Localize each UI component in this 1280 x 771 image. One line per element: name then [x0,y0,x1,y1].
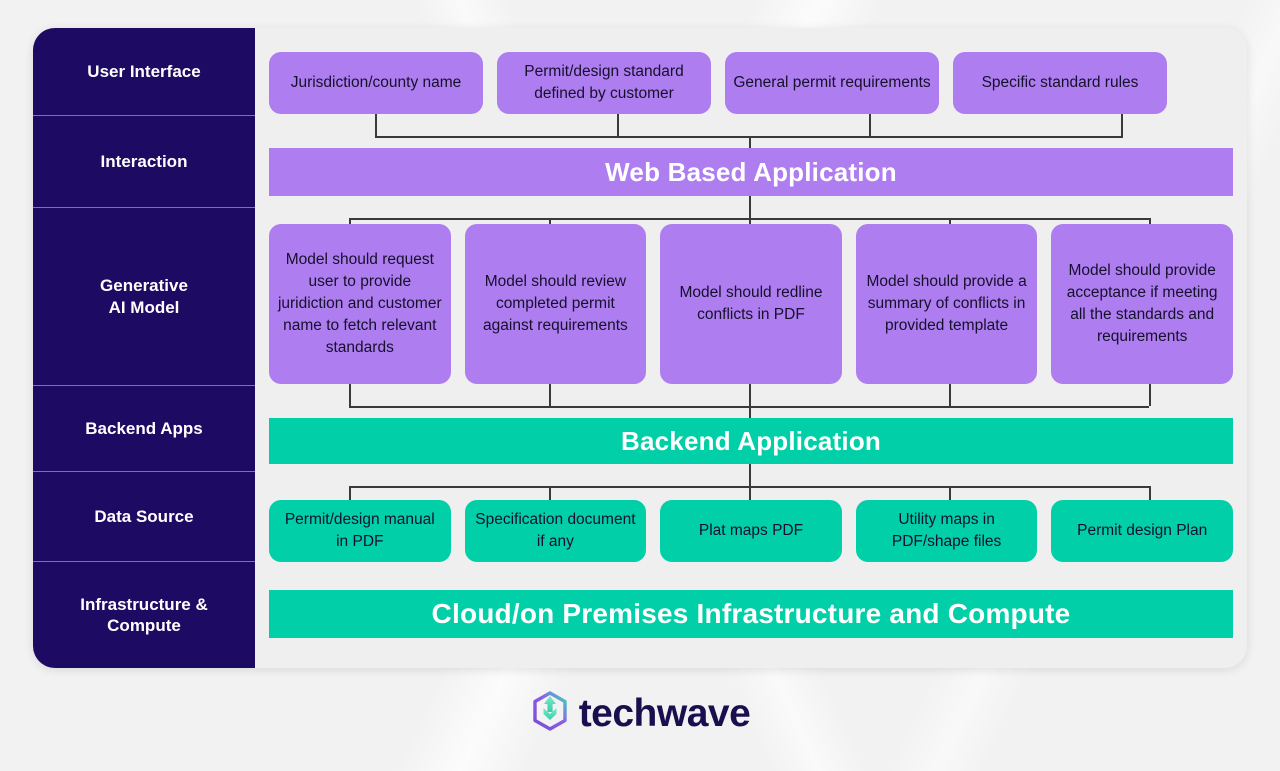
ai-box-summary-conflicts[interactable]: Model should provide a summary of confli… [856,224,1038,384]
ui-box-specific-standard-rules[interactable]: Specific standard rules [953,52,1167,114]
rail-item-data-source[interactable]: Data Source [33,472,255,562]
rail-label-data-source: Data Source [94,506,193,527]
ui-box-jurisdiction[interactable]: Jurisdiction/county name [269,52,483,114]
connector-backend-riser-1 [349,384,351,406]
backend-application-label: Backend Application [621,426,881,457]
infrastructure-compute-label: Cloud/on Premises Infrastructure and Com… [432,598,1071,630]
data-box-utility-maps[interactable]: Utility maps in PDF/shape files [856,500,1038,562]
ui-box-permit-design-standard[interactable]: Permit/design standard defined by custom… [497,52,711,114]
backend-application-bar[interactable]: Backend Application [269,418,1233,464]
data-source-box-row: Permit/design manual in PDF Specificatio… [269,500,1233,562]
rail-label-line2: Compute [107,616,181,635]
data-box-label: Permit/design manual in PDF [277,509,443,553]
connector-ui-drop-2 [617,114,619,136]
rail-item-backend-apps[interactable]: Backend Apps [33,386,255,472]
rail-item-user-interface[interactable]: User Interface [33,28,255,116]
data-box-plat-maps[interactable]: Plat maps PDF [660,500,842,562]
rail-label-user-interface: User Interface [87,61,200,82]
layer-rail: User Interface Interaction Generative AI… [33,28,255,668]
data-box-label: Specification document if any [473,509,639,553]
data-box-label: Permit design Plan [1077,520,1207,542]
rail-item-infrastructure-compute[interactable]: Infrastructure & Compute [33,562,255,668]
rail-label-line1: Infrastructure & [80,595,208,614]
connector-backend-riser-3 [749,384,751,406]
ai-box-label: Model should review completed permit aga… [473,271,639,337]
ai-box-review-permit[interactable]: Model should review completed permit aga… [465,224,647,384]
user-interface-box-row: Jurisdiction/county name Permit/design s… [269,52,1233,114]
generative-ai-box-row: Model should request user to provide jur… [269,224,1233,384]
diagram-content: Jurisdiction/county name Permit/design s… [255,28,1247,668]
data-box-label: Utility maps in PDF/shape files [864,509,1030,553]
rail-label-line2: AI Model [109,298,180,317]
connector-backend-riser-2 [549,384,551,406]
architecture-diagram-card: User Interface Interaction Generative AI… [33,28,1247,668]
connector-backend-riser-5 [1149,384,1151,406]
web-based-application-bar[interactable]: Web Based Application [269,148,1233,196]
ai-box-redline-conflicts[interactable]: Model should redline conflicts in PDF [660,224,842,384]
ui-box-label: Permit/design standard defined by custom… [505,61,703,105]
data-box-specification-document[interactable]: Specification document if any [465,500,647,562]
ui-box-label: General permit requirements [733,72,930,94]
ai-box-label: Model should provide acceptance if meeti… [1059,260,1225,348]
ui-box-general-permit-requirements[interactable]: General permit requirements [725,52,939,114]
ai-box-label: Model should provide a summary of confli… [864,271,1030,337]
web-based-application-label: Web Based Application [605,157,897,188]
hexagon-cube-up-arrow-icon [530,690,570,737]
connector-ui-drop-1 [375,114,377,136]
brand-name: techwave [579,692,751,736]
rail-label-line1: Generative [100,276,188,295]
rail-item-interaction[interactable]: Interaction [33,116,255,208]
ai-box-provide-acceptance[interactable]: Model should provide acceptance if meeti… [1051,224,1233,384]
rail-label-interaction: Interaction [101,151,188,172]
ai-box-request-juridiction[interactable]: Model should request user to provide jur… [269,224,451,384]
rail-label-backend-apps: Backend Apps [85,418,202,439]
ai-box-label: Model should redline conflicts in PDF [668,282,834,326]
data-box-permit-design-plan[interactable]: Permit design Plan [1051,500,1233,562]
connector-ui-drop-4 [1121,114,1123,136]
rail-item-generative-ai-model[interactable]: Generative AI Model [33,208,255,386]
ui-box-label: Jurisdiction/county name [291,72,462,94]
connector-datasource-stem [749,464,751,486]
connector-ui-drop-3 [869,114,871,136]
rail-label-generative-ai-model: Generative AI Model [100,275,188,318]
ai-box-label: Model should request user to provide jur… [277,249,443,359]
connector-webapp-stem [749,196,751,218]
data-box-label: Plat maps PDF [699,520,803,542]
connector-backend-riser-4 [949,384,951,406]
rail-label-infrastructure-compute: Infrastructure & Compute [80,594,208,637]
data-box-permit-design-manual[interactable]: Permit/design manual in PDF [269,500,451,562]
brand-logo: techwave [0,690,1280,737]
ui-box-label: Specific standard rules [982,72,1139,94]
infrastructure-compute-bar[interactable]: Cloud/on Premises Infrastructure and Com… [269,590,1233,638]
